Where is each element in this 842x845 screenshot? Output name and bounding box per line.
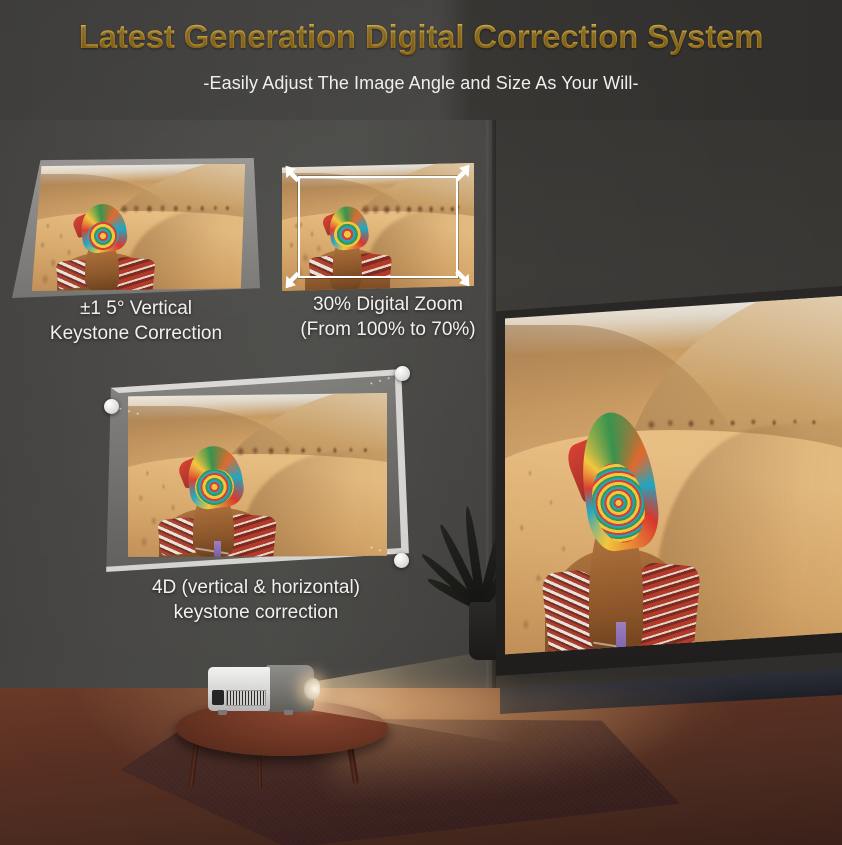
zoom-arrow-bottom-left-icon <box>284 271 303 290</box>
keystone-corner-handle-bottom-right[interactable] <box>394 553 409 568</box>
desert-photo <box>505 296 842 658</box>
caption-line-2: (From 100% to 70%) <box>272 317 504 342</box>
feature-vertical-keystone-caption: ±1 5° Vertical Keystone Correction <box>6 296 266 346</box>
keystone-corrected-image <box>128 393 387 557</box>
projector-lens <box>304 678 320 700</box>
projector-control-panel <box>212 690 224 705</box>
feature-vertical-keystone-visual <box>12 158 260 298</box>
keystone-corner-handle-top-left[interactable] <box>104 399 119 414</box>
page-title: Latest Generation Digital Correction Sys… <box>0 18 842 56</box>
feature-digital-zoom-visual <box>282 163 474 291</box>
projected-desert-photo <box>505 296 842 658</box>
saddle-tassel <box>214 541 222 557</box>
portable-projector <box>208 664 316 714</box>
projected-screen <box>496 286 842 676</box>
projector-foot <box>218 710 227 715</box>
caption-line-1: ±1 5° Vertical <box>6 296 266 321</box>
zoom-arrow-top-left-icon <box>284 164 303 183</box>
zoom-crop-frame <box>298 176 457 278</box>
desert-photo <box>128 393 387 557</box>
zoom-arrow-top-right-icon <box>452 163 471 182</box>
caption-line-2: Keystone Correction <box>6 321 266 346</box>
projector-foot <box>284 710 293 715</box>
feature-4d-keystone-visual <box>100 366 412 574</box>
caption-line-2: keystone correction <box>96 600 416 625</box>
keystone-corner-handle-top-right[interactable] <box>395 366 410 381</box>
desert-photo <box>298 176 457 278</box>
distant-camel-caravan <box>232 442 377 458</box>
keystone-corrected-image <box>32 164 245 291</box>
page-subtitle: -Easily Adjust The Image Angle and Size … <box>0 73 842 94</box>
projector-vent-grill <box>226 690 266 706</box>
zoom-arrow-bottom-right-icon <box>452 269 471 288</box>
feature-4d-keystone-caption: 4D (vertical & horizontal) keystone corr… <box>96 575 416 625</box>
caption-line-1: 30% Digital Zoom <box>272 292 504 317</box>
desert-photo <box>32 164 245 291</box>
feature-digital-zoom-caption: 30% Digital Zoom (From 100% to 70%) <box>272 292 504 342</box>
distant-camel-caravan <box>360 203 458 214</box>
caption-line-1: 4D (vertical & horizontal) <box>96 575 416 600</box>
distant-camel-caravan <box>117 202 236 215</box>
distant-camel-caravan <box>640 405 829 441</box>
product-feature-poster: ±1 5° Vertical Keystone Correction <box>0 0 842 845</box>
